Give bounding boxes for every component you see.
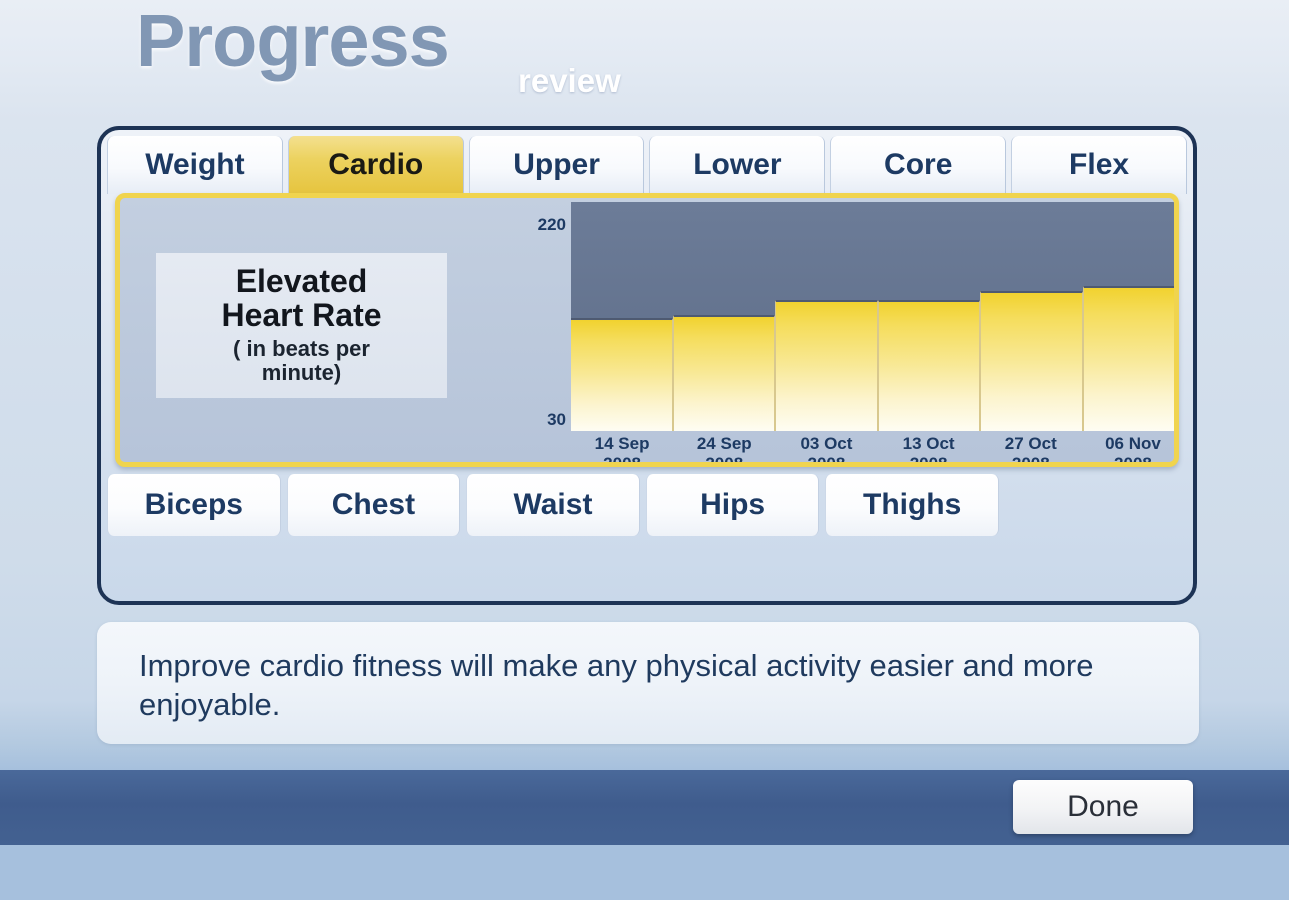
tab-biceps-label: Biceps [145, 488, 243, 522]
top-tab-bar: Weight Cardio Upper Lower Core Flex [101, 130, 1193, 194]
y-tick-max: 220 [538, 215, 566, 235]
tab-core-label: Core [884, 148, 952, 182]
chart-x-label: 13 Oct2008 [878, 434, 980, 467]
chart-bar [878, 300, 981, 431]
message-panel: Improve cardio fitness will make any phy… [97, 622, 1199, 744]
chart-x-label: 24 Sep2008 [673, 434, 775, 467]
chart-bar [980, 291, 1083, 431]
y-tick-min: 30 [547, 410, 566, 430]
tab-lower[interactable]: Lower [649, 136, 825, 194]
chart-x-label: 27 Oct2008 [980, 434, 1082, 467]
chart-x-label-line: 2008 [878, 454, 980, 467]
chart-bar [1083, 286, 1180, 431]
chart-content-frame: Elevated Heart Rate ( in beats per minut… [115, 193, 1179, 467]
tab-waist[interactable]: Waist [466, 474, 640, 536]
chart-plot-area [571, 202, 1179, 431]
chart-label-sub-line1: ( in beats per [233, 337, 370, 362]
tab-weight[interactable]: Weight [107, 136, 283, 194]
done-button[interactable]: Done [1013, 780, 1193, 834]
chart-x-label-line: 24 Sep [673, 434, 775, 454]
tab-waist-label: Waist [514, 488, 593, 522]
chart-x-label-line: 2008 [980, 454, 1082, 467]
chart-x-label-line: 03 Oct [775, 434, 877, 454]
chart-x-label-line: 27 Oct [980, 434, 1082, 454]
chart-x-axis: 14 Sep200824 Sep200803 Oct200813 Oct2008… [571, 434, 1179, 467]
tab-lower-label: Lower [693, 148, 781, 182]
chart-label-sub-line2: minute) [233, 361, 370, 386]
tab-chest-label: Chest [332, 488, 415, 522]
chart-bar [673, 315, 776, 431]
tab-core[interactable]: Core [830, 136, 1006, 194]
tab-flex[interactable]: Flex [1011, 136, 1187, 194]
page-subtitle: review [518, 64, 621, 97]
tab-hips[interactable]: Hips [646, 474, 820, 536]
tab-thighs[interactable]: Thighs [825, 474, 999, 536]
page-title: Progress [136, 4, 449, 78]
chart-x-label-line: 2008 [1082, 454, 1179, 467]
chart-x-label-line: 2008 [673, 454, 775, 467]
chart-x-label-line: 2008 [571, 454, 673, 467]
chart-x-label: 03 Oct2008 [775, 434, 877, 467]
main-panel: Weight Cardio Upper Lower Core Flex Elev… [97, 126, 1197, 605]
tab-hips-label: Hips [700, 488, 765, 522]
bottom-tab-bar: Biceps Chest Waist Hips Thighs [107, 474, 999, 536]
chart-label-title-line1: Elevated [221, 265, 381, 299]
chart-x-label-line: 13 Oct [878, 434, 980, 454]
chart-label-title-line2: Heart Rate [221, 299, 381, 333]
tab-chest[interactable]: Chest [287, 474, 461, 536]
tab-flex-label: Flex [1069, 148, 1129, 182]
chart-label-title: Elevated Heart Rate [221, 265, 381, 333]
chart-y-axis: 220 30 [510, 198, 570, 462]
chart-x-label-line: 14 Sep [571, 434, 673, 454]
header: Progress review [0, 0, 1289, 122]
tab-weight-label: Weight [145, 148, 244, 182]
progress-review-screen: Progress review Weight Cardio Upper Lowe… [0, 0, 1289, 900]
chart-x-label: 06 Nov2008 [1082, 434, 1179, 467]
chart-content-inner: Elevated Heart Rate ( in beats per minut… [120, 198, 1174, 462]
chart-bar [775, 300, 878, 431]
chart-x-label-line: 2008 [775, 454, 877, 467]
tab-upper[interactable]: Upper [469, 136, 645, 194]
bar-chart: 220 30 14 Sep200824 Sep200803 Oct200813 … [510, 198, 1174, 462]
tab-cardio-label: Cardio [328, 148, 423, 182]
chart-x-label-line: 06 Nov [1082, 434, 1179, 454]
tab-thighs-label: Thighs [863, 488, 961, 522]
chart-label-box: Elevated Heart Rate ( in beats per minut… [156, 253, 447, 398]
chart-x-label: 14 Sep2008 [571, 434, 673, 467]
chart-bar [571, 318, 673, 431]
done-button-label: Done [1067, 790, 1139, 824]
chart-label-subtitle: ( in beats per minute) [219, 337, 384, 386]
tab-cardio[interactable]: Cardio [288, 136, 464, 194]
tab-upper-label: Upper [513, 148, 600, 182]
tab-biceps[interactable]: Biceps [107, 474, 281, 536]
message-text: Improve cardio fitness will make any phy… [139, 647, 1159, 725]
